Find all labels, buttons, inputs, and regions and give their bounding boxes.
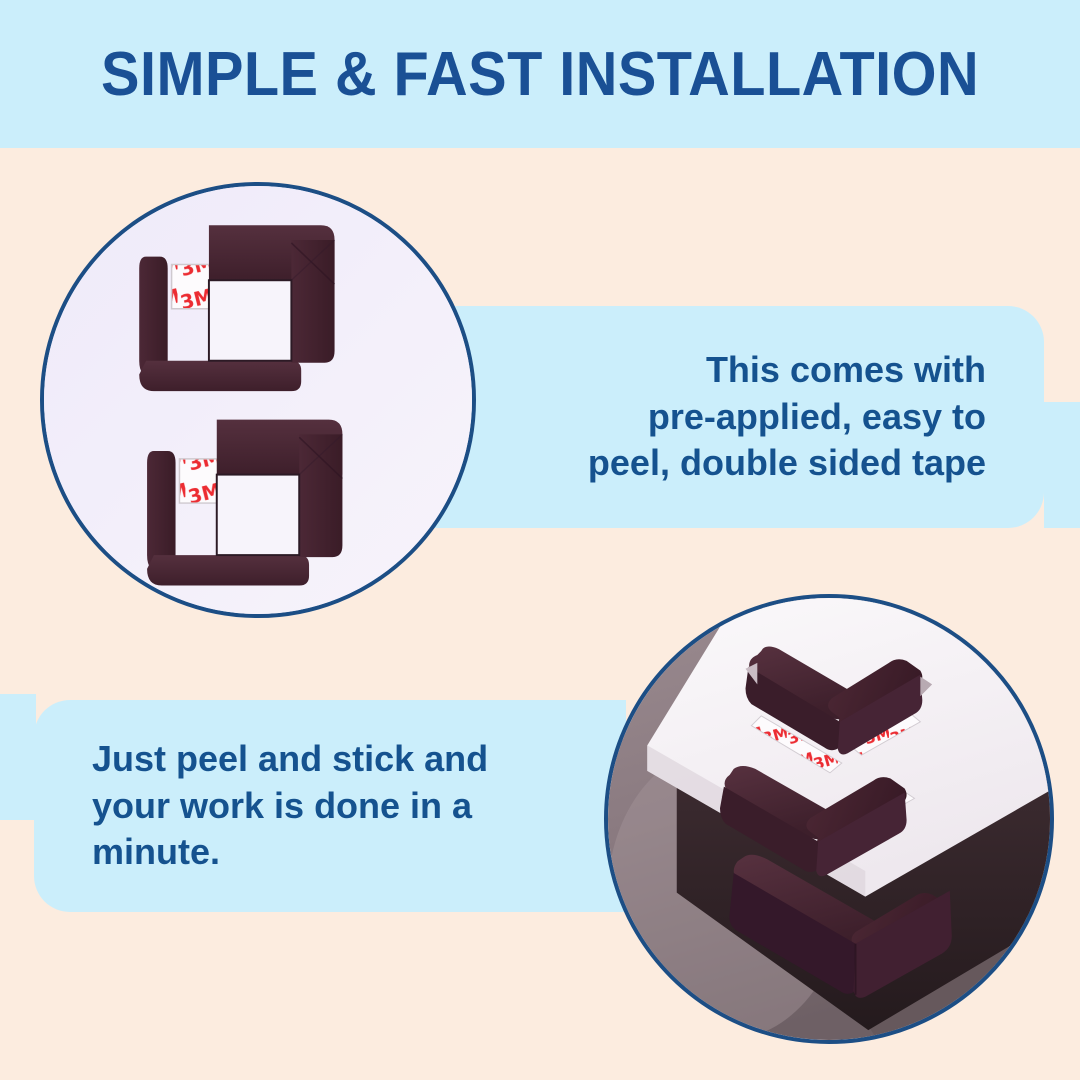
callout-peel-stick-line-2: your work is done in a xyxy=(92,783,472,830)
callout-peel-stick-line-1: Just peel and stick and xyxy=(92,736,488,783)
callout-peel-stick-line-3: minute. xyxy=(92,829,220,876)
corner-guards-illustration: 3M xyxy=(44,186,472,614)
page-title: SIMPLE & FAST INSTALLATION xyxy=(101,39,979,110)
photo-corner-guards-installed: 3M xyxy=(604,594,1054,1044)
accent-square-right xyxy=(1044,402,1080,528)
callout-tape-line-1: This comes with xyxy=(706,347,986,394)
callout-tape-line-3: peel, double sided tape xyxy=(588,440,986,487)
photo-corner-guards-with-tape: 3M xyxy=(40,182,476,618)
accent-square-left xyxy=(0,694,36,820)
callout-tape-line-2: pre-applied, easy to xyxy=(648,394,986,441)
callout-peel-stick: Just peel and stick and your work is don… xyxy=(34,700,626,912)
header-banner: SIMPLE & FAST INSTALLATION xyxy=(0,0,1080,148)
table-corner-installed-illustration: 3M xyxy=(608,598,1050,1040)
